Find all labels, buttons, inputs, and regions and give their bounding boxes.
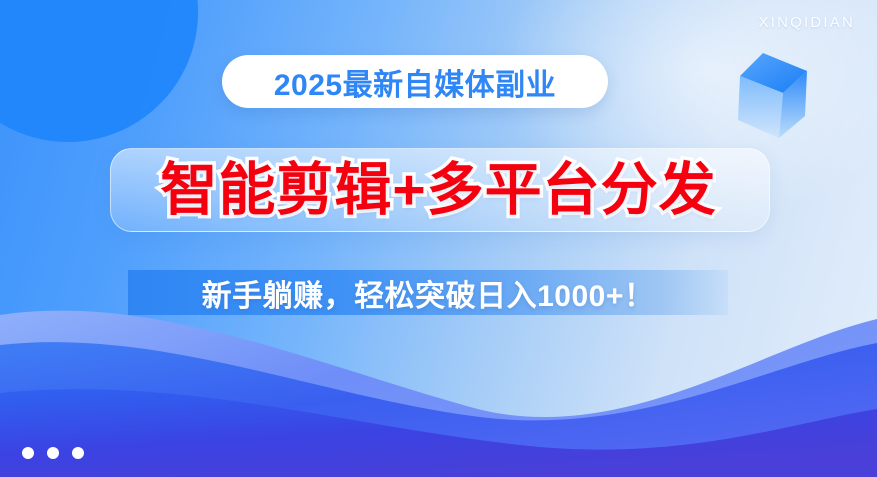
poster-content: 2025最新自媒体副业 智能剪辑+多平台分发 新手躺赚，轻松突破日入1000+！ [0, 0, 877, 477]
top-badge-label: 2025最新自媒体副业 [274, 60, 556, 104]
promo-poster: XINQIDIAN 2025最新自媒体副业 智能剪辑+多平台分发 新手躺赚，轻松… [0, 0, 877, 477]
dot-indicator-3[interactable] [72, 447, 84, 459]
watermark-label: XINQIDIAN [759, 14, 855, 31]
headline-text: 智能剪辑+多平台分发 [0, 144, 877, 236]
subline-text: 新手躺赚，轻松突破日入1000+！ [128, 270, 728, 315]
top-badge: 2025最新自媒体副业 [222, 55, 608, 108]
dot-indicator-2[interactable] [47, 447, 59, 459]
dot-indicator-group[interactable] [22, 447, 84, 459]
dot-indicator-1[interactable] [22, 447, 34, 459]
